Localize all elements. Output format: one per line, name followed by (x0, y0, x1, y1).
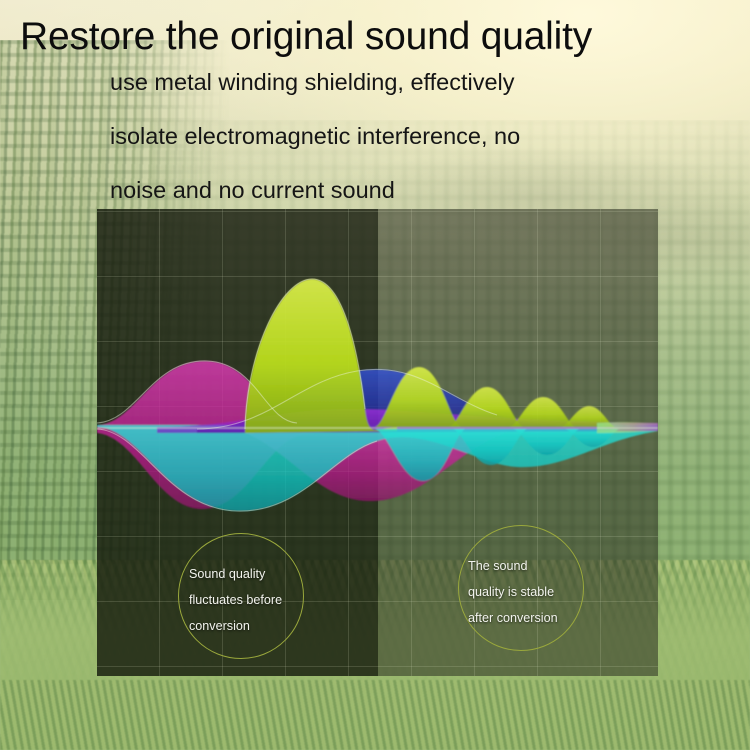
background-grass-detail (0, 680, 750, 750)
page-title: Restore the original sound quality (20, 17, 735, 58)
poster-canvas: Restore the original sound quality use m… (0, 0, 750, 750)
annotation-after-line-1: The sound (468, 553, 558, 579)
annotation-before-line-1: Sound quality (189, 561, 282, 587)
annotation-text-before: Sound quality fluctuates before conversi… (189, 561, 282, 639)
subtitle-line-3: noise and no current sound (110, 178, 395, 204)
annotation-after-line-2: quality is stable (468, 579, 558, 605)
annotation-before-line-2: fluctuates before (189, 587, 282, 613)
wave-bump-lime-3 (509, 397, 575, 427)
subtitle-line-2: isolate electromagnetic interference, no (110, 124, 520, 150)
annotation-before-line-3: conversion (189, 613, 282, 639)
annotation-text-after: The sound quality is stable after conver… (468, 553, 558, 631)
annotation-after-line-3: after conversion (468, 605, 558, 631)
subtitle-line-1: use metal winding shielding, effectively (110, 70, 515, 96)
